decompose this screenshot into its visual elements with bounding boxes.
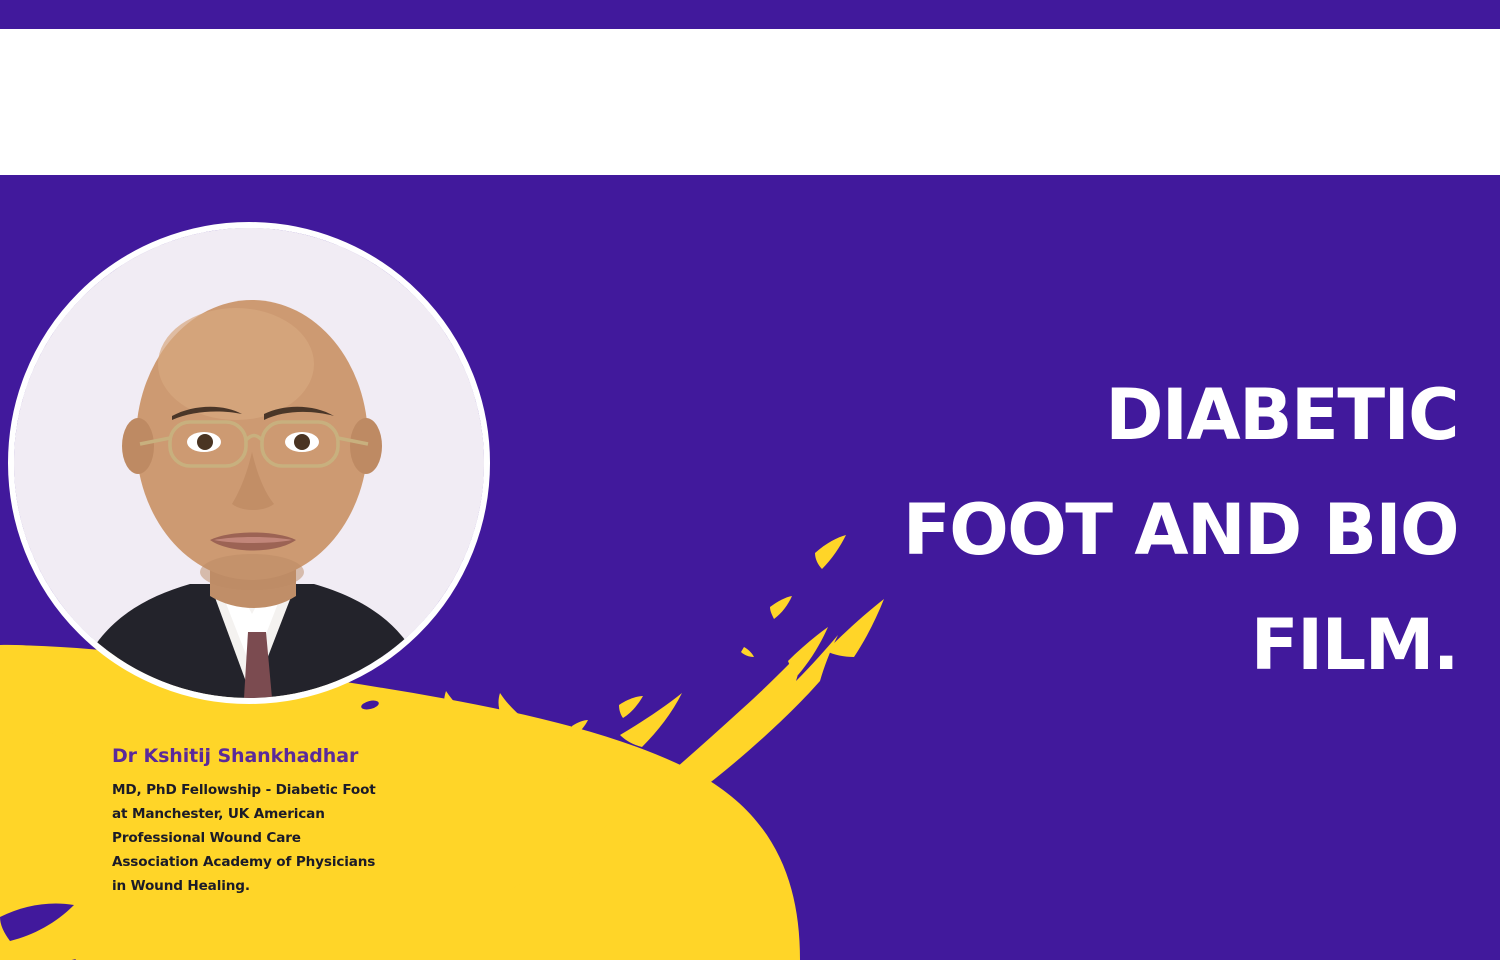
- title-line-2: FOOT AND BIO: [818, 473, 1458, 588]
- credential-line-1: MD, PhD Fellowship - Diabetic Foot: [112, 778, 412, 802]
- credential-line-4: Association Academy of Physicians: [112, 850, 412, 874]
- header-band: [0, 29, 1500, 175]
- credential-line-3: Professional Wound Care: [112, 826, 412, 850]
- credential-line-2: at Manchester, UK American: [112, 802, 412, 826]
- session-title: DIABETIC FOOT AND BIO FILM.: [818, 358, 1458, 703]
- title-line-3: FILM.: [818, 588, 1458, 703]
- title-line-1: DIABETIC: [818, 358, 1458, 473]
- slide-canvas: BODY OF Knowledge A JBCPL CONCLAVE'21 Un…: [0, 0, 1500, 960]
- speaker-info: Dr Kshitij Shankhadhar MD, PhD Fellowshi…: [112, 745, 412, 898]
- speaker-name: Dr Kshitij Shankhadhar: [112, 745, 412, 767]
- top-accent-bar: [0, 0, 1500, 29]
- speaker-portrait: [8, 222, 490, 704]
- credential-line-5: in Wound Healing.: [112, 874, 412, 898]
- portrait-ring-border: [8, 222, 490, 704]
- speaker-credentials: MD, PhD Fellowship - Diabetic Foot at Ma…: [112, 778, 412, 898]
